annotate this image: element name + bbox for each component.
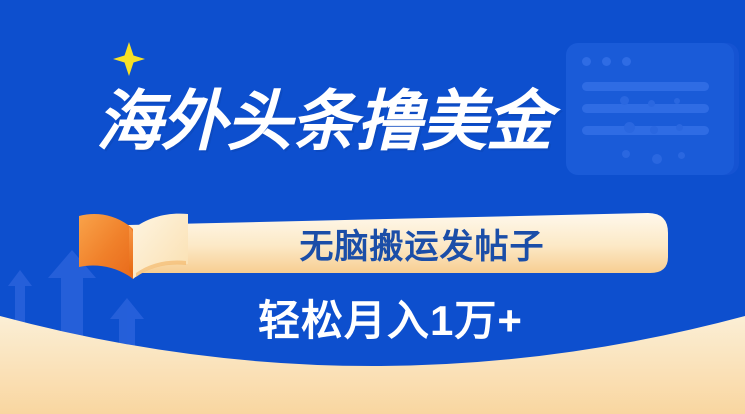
tagline-text: 轻松月入1万+ — [258, 298, 523, 344]
open-book-icon — [76, 207, 194, 291]
star-icon — [113, 42, 145, 76]
dot-grid-icon — [620, 96, 732, 192]
card-window-dots — [582, 57, 631, 66]
subtitle-ribbon: 无脑搬运发帖子 — [128, 211, 668, 275]
page-title: 海外头条撸美金 — [96, 88, 551, 154]
promo-poster: 海外头条撸美金 无脑搬运发帖子 — [0, 0, 745, 414]
card-line-1 — [582, 82, 709, 91]
subtitle-text: 无脑搬运发帖子 — [128, 211, 668, 275]
